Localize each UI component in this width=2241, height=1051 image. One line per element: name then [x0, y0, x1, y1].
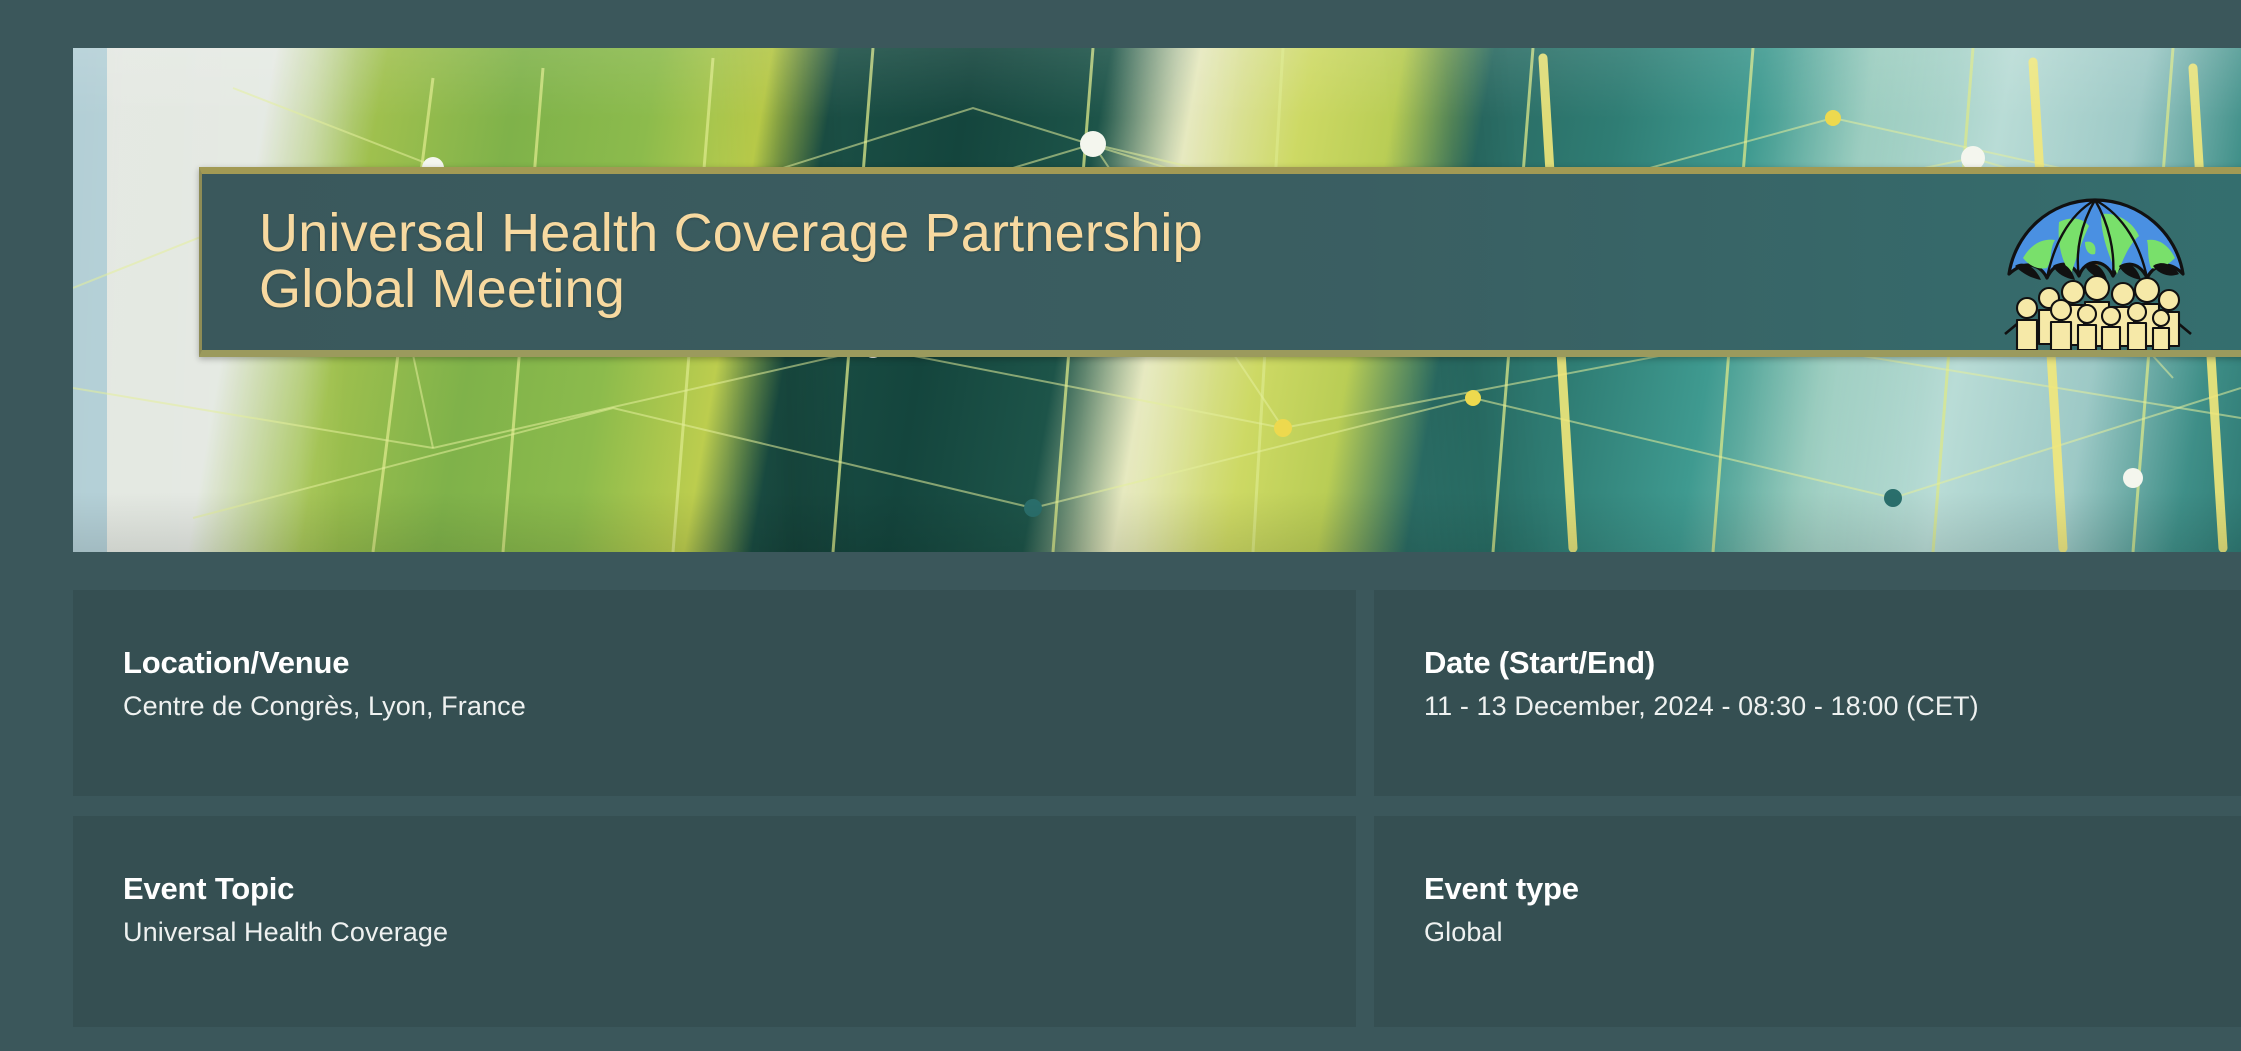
- event-page: Universal Health Coverage Partnership Gl…: [0, 0, 2241, 1051]
- detail-value: Global: [1424, 916, 2241, 950]
- detail-label: Event type: [1424, 870, 2241, 907]
- banner-title: Universal Health Coverage Partnership Gl…: [259, 206, 1203, 317]
- detail-value: 11 - 13 December, 2024 - 08:30 - 18:00 (…: [1424, 690, 2241, 724]
- detail-value: Centre de Congrès, Lyon, France: [123, 690, 1356, 724]
- detail-value: Universal Health Coverage: [123, 916, 1356, 950]
- event-details-grid: Location/Venue Centre de Congrès, Lyon, …: [73, 590, 2241, 1027]
- banner-title-plaque: Universal Health Coverage Partnership Gl…: [199, 167, 2241, 357]
- detail-card-event-type: Event type Global: [1374, 816, 2241, 1027]
- detail-label: Event Topic: [123, 870, 1356, 907]
- detail-card-location-venue: Location/Venue Centre de Congrès, Lyon, …: [73, 590, 1356, 796]
- detail-label: Location/Venue: [123, 644, 1356, 681]
- detail-card-event-topic: Event Topic Universal Health Coverage: [73, 816, 1356, 1027]
- uhc-umbrella-people-logo-icon: [1997, 182, 2197, 357]
- event-banner: Universal Health Coverage Partnership Gl…: [73, 48, 2241, 552]
- detail-card-date-start-end: Date (Start/End) 11 - 13 December, 2024 …: [1374, 590, 2241, 796]
- detail-label: Date (Start/End): [1424, 644, 2241, 681]
